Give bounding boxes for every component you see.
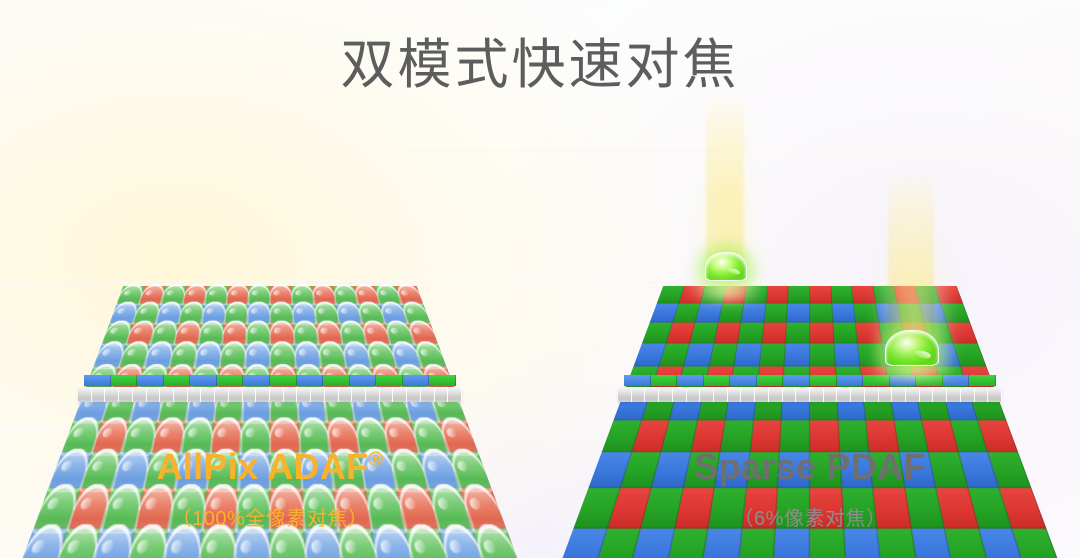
sensor-pixel-face (350, 375, 377, 386)
sensor-pixel-face (730, 375, 757, 386)
sensor-pixel (878, 529, 919, 558)
sensor-pixel (316, 323, 342, 344)
sensor-pixel-face (403, 375, 430, 386)
substrate-tooth (297, 387, 311, 402)
sensor-pixel (833, 323, 858, 344)
sensor-pixel (312, 286, 336, 303)
substrate-tooth (407, 387, 421, 402)
sensor-pixel (220, 343, 246, 366)
sensor-pixel (89, 529, 135, 558)
substrate-tooth (256, 387, 270, 402)
registered-mark: ® (368, 449, 383, 471)
substrate-tooth (755, 387, 769, 402)
substrate-tooth (961, 387, 975, 402)
substrate-tooth (188, 387, 202, 402)
sensor-pixel (234, 529, 270, 558)
sensor-illustration-sparse (540, 200, 1080, 450)
substrate-tooth (645, 387, 659, 402)
sensor-pixel (911, 529, 955, 558)
sensor-pixel (629, 529, 675, 558)
pdaf-pixel (705, 252, 747, 281)
substrate-tooth (906, 387, 920, 402)
sensor-pixel (270, 529, 306, 558)
sensor-pixel-face (243, 375, 270, 386)
page-title: 双模式快速对焦 (0, 34, 1080, 96)
sensor-pixel-face (863, 375, 890, 386)
sensor-pixel (766, 286, 789, 303)
substrate-tooth (133, 387, 147, 402)
substrate-tooth (325, 387, 339, 402)
sensor-pixel (292, 304, 316, 323)
sensor-pixel (718, 304, 744, 323)
substrate-tooth (174, 387, 188, 402)
sensor-pixel (204, 286, 228, 303)
substrate-tooth (229, 387, 243, 402)
sensor-pixel (125, 529, 169, 558)
substrate-tooth (311, 387, 325, 402)
sensor-pixel (439, 529, 488, 558)
sensor-pixel (248, 286, 270, 303)
sensor-pixel-face (969, 375, 996, 386)
substrate-tooth (947, 387, 961, 402)
substrate-tooth (366, 387, 380, 402)
sensor-pixel-face (111, 375, 138, 386)
sensor-pixel (161, 529, 202, 558)
sensor-pixel (304, 529, 343, 558)
sensor-pixel-face (651, 375, 678, 386)
sensor-pixel-face (783, 375, 810, 386)
sensor-pixel (709, 343, 738, 366)
substrate-tooth (393, 387, 407, 402)
sensor-pixel-face (217, 375, 244, 386)
substrate-tooth (837, 387, 851, 402)
substrate-tooth (865, 387, 879, 402)
sensor-substrate (618, 387, 1002, 402)
sensor-pixel (194, 343, 222, 366)
sensor-pixel (831, 286, 854, 303)
sensor-pixel (936, 286, 963, 303)
sensor-pixel (737, 529, 776, 558)
caption-text: AllPix ADAF (156, 446, 368, 487)
substrate-tooth (714, 387, 728, 402)
panel-caption-allpix: AllPix ADAF® (0, 446, 540, 488)
substrate-tooth (284, 387, 298, 402)
substrate-tooth (352, 387, 366, 402)
substrate-tooth (618, 387, 632, 402)
sensor-pixel-face (810, 375, 837, 386)
sensor-pixel (810, 343, 835, 366)
sensor-substrate (78, 387, 462, 402)
sensor-pixel (270, 286, 292, 303)
sensor-pixel (834, 343, 860, 366)
sensor-pixel (764, 304, 788, 323)
sensor-pixel-face (270, 375, 297, 386)
sensor-pixel (844, 529, 883, 558)
sensor-pixel-face (837, 375, 864, 386)
sensor-pixel-face (137, 375, 164, 386)
sensor-pixel (714, 323, 741, 344)
panel-sparse-pdaf: Sparse PDAF （6%像素对焦） (540, 150, 1080, 558)
sensor-pixel-face (376, 375, 403, 386)
panel-subcaption-allpix: （100%全像素对焦） (0, 502, 540, 531)
sensor-pixel (741, 304, 766, 323)
substrate-tooth (673, 387, 687, 402)
sensor-pixel (734, 343, 762, 366)
sensor-pixel (945, 529, 991, 558)
panel-caption-sparse: Sparse PDAF (540, 446, 1080, 488)
sensor-pixel (810, 529, 846, 558)
sensor-pixel (941, 304, 970, 323)
sensor-pixel-face (429, 375, 456, 386)
sensor-pixel (318, 343, 346, 366)
substrate-tooth (119, 387, 133, 402)
sensor-pixel (201, 304, 226, 323)
sensor-front-bevel (624, 375, 996, 386)
sensor-pixel (396, 286, 423, 303)
sensor-pixel-face (890, 375, 917, 386)
substrate-tooth (380, 387, 394, 402)
substrate-tooth (421, 387, 435, 402)
sensor-pixel (405, 529, 451, 558)
sensor-pixel (592, 529, 641, 558)
substrate-tooth (700, 387, 714, 402)
sensor-pixel (854, 304, 879, 323)
sensor-pixel (294, 343, 320, 366)
pdaf-pixel (885, 330, 939, 366)
sensor-pixel (738, 323, 764, 344)
substrate-tooth (741, 387, 755, 402)
substrate-tooth (879, 387, 893, 402)
sensor-pixel (270, 304, 293, 323)
sensor-pixel (701, 529, 742, 558)
substrate-tooth (160, 387, 174, 402)
sensor-pixel-face (164, 375, 191, 386)
sensor-pixel (16, 529, 67, 558)
substrate-tooth (243, 387, 257, 402)
sensor-pixel (774, 529, 810, 558)
substrate-tooth (975, 387, 989, 402)
sensor-pixel-face (757, 375, 784, 386)
sensor-pixel (182, 286, 207, 303)
substrate-tooth (147, 387, 161, 402)
substrate-tooth (448, 387, 462, 402)
sensor-pixel (197, 529, 236, 558)
substrate-tooth (810, 387, 824, 402)
sensor-pixel (1013, 529, 1064, 558)
sensor-pixel (222, 323, 247, 344)
sensor-pixel (832, 304, 856, 323)
sensor-pixel-face (916, 375, 943, 386)
substrate-tooth (851, 387, 865, 402)
slide-canvas: 双模式快速对焦 AllPix ADAF® （100%全像素对焦） (0, 0, 1080, 558)
sensor-pixel (556, 529, 607, 558)
sensor-pixel (52, 529, 101, 558)
panel-allpix-adaf: AllPix ADAF® （100%全像素对焦） (0, 150, 540, 558)
sensor-front-bevel (84, 375, 456, 386)
caption-text: Sparse PDAF (694, 446, 925, 487)
substrate-tooth (270, 387, 284, 402)
sensor-pixel (744, 286, 768, 303)
sensor-pixel (401, 304, 430, 323)
sensor-pixel (224, 304, 248, 323)
sensor-pixel (810, 323, 834, 344)
substrate-tooth (435, 387, 449, 402)
sensor-pixel (785, 343, 810, 366)
sensor-pixel (788, 286, 810, 303)
sensor-pixel (858, 343, 886, 366)
sensor-pixel (760, 343, 786, 366)
sensor-pixel-face (190, 375, 217, 386)
substrate-tooth (796, 387, 810, 402)
sensor-pixel (787, 304, 810, 323)
sensor-pixel (291, 286, 314, 303)
substrate-tooth (728, 387, 742, 402)
sensor-pixel-face (297, 375, 324, 386)
substrate-tooth (201, 387, 215, 402)
sensor-pixel (198, 323, 224, 344)
sensor-pixel (786, 323, 810, 344)
sensor-pixel (338, 529, 379, 558)
sensor-pixel (226, 286, 249, 303)
substrate-tooth (988, 387, 1002, 402)
sensor-illustration-allpix (0, 200, 540, 450)
substrate-tooth (769, 387, 783, 402)
sensor-pixel (810, 286, 832, 303)
substrate-tooth (687, 387, 701, 402)
substrate-tooth (632, 387, 646, 402)
sensor-pixel (247, 304, 270, 323)
sensor-pixel (178, 304, 204, 323)
sensor-pixel-face (704, 375, 731, 386)
sensor-pixel (371, 529, 415, 558)
substrate-tooth (920, 387, 934, 402)
sensor-pixel (852, 286, 876, 303)
sensor-pixel (473, 529, 524, 558)
substrate-tooth (215, 387, 229, 402)
substrate-tooth (783, 387, 797, 402)
sensor-pixel-face (943, 375, 970, 386)
substrate-tooth (824, 387, 838, 402)
sensor-pixel (174, 323, 201, 344)
substrate-tooth (105, 387, 119, 402)
sensor-pixel (314, 304, 339, 323)
sensor-pixel-face (624, 375, 651, 386)
sensor-pixel (293, 323, 318, 344)
sensor-pixel (245, 343, 270, 366)
sensor-pixel (270, 323, 294, 344)
substrate-tooth (92, 387, 106, 402)
sensor-pixel (810, 304, 833, 323)
sensor-pixel (762, 323, 787, 344)
sensor-pixel (722, 286, 747, 303)
substrate-tooth (892, 387, 906, 402)
sensor-pixel-face (84, 375, 111, 386)
panel-subcaption-sparse: （6%像素对焦） (540, 502, 1080, 531)
sensor-pixel (979, 529, 1028, 558)
substrate-tooth (659, 387, 673, 402)
sensor-pixel (169, 343, 198, 366)
sensor-pixel-face (677, 375, 704, 386)
substrate-tooth (339, 387, 353, 402)
sensor-pixel (270, 343, 295, 366)
sensor-pixel (246, 323, 270, 344)
sensor-pixel (665, 529, 709, 558)
substrate-tooth (933, 387, 947, 402)
sensor-pixel-face (323, 375, 350, 386)
substrate-tooth (78, 387, 92, 402)
sensor-pixel (856, 323, 882, 344)
